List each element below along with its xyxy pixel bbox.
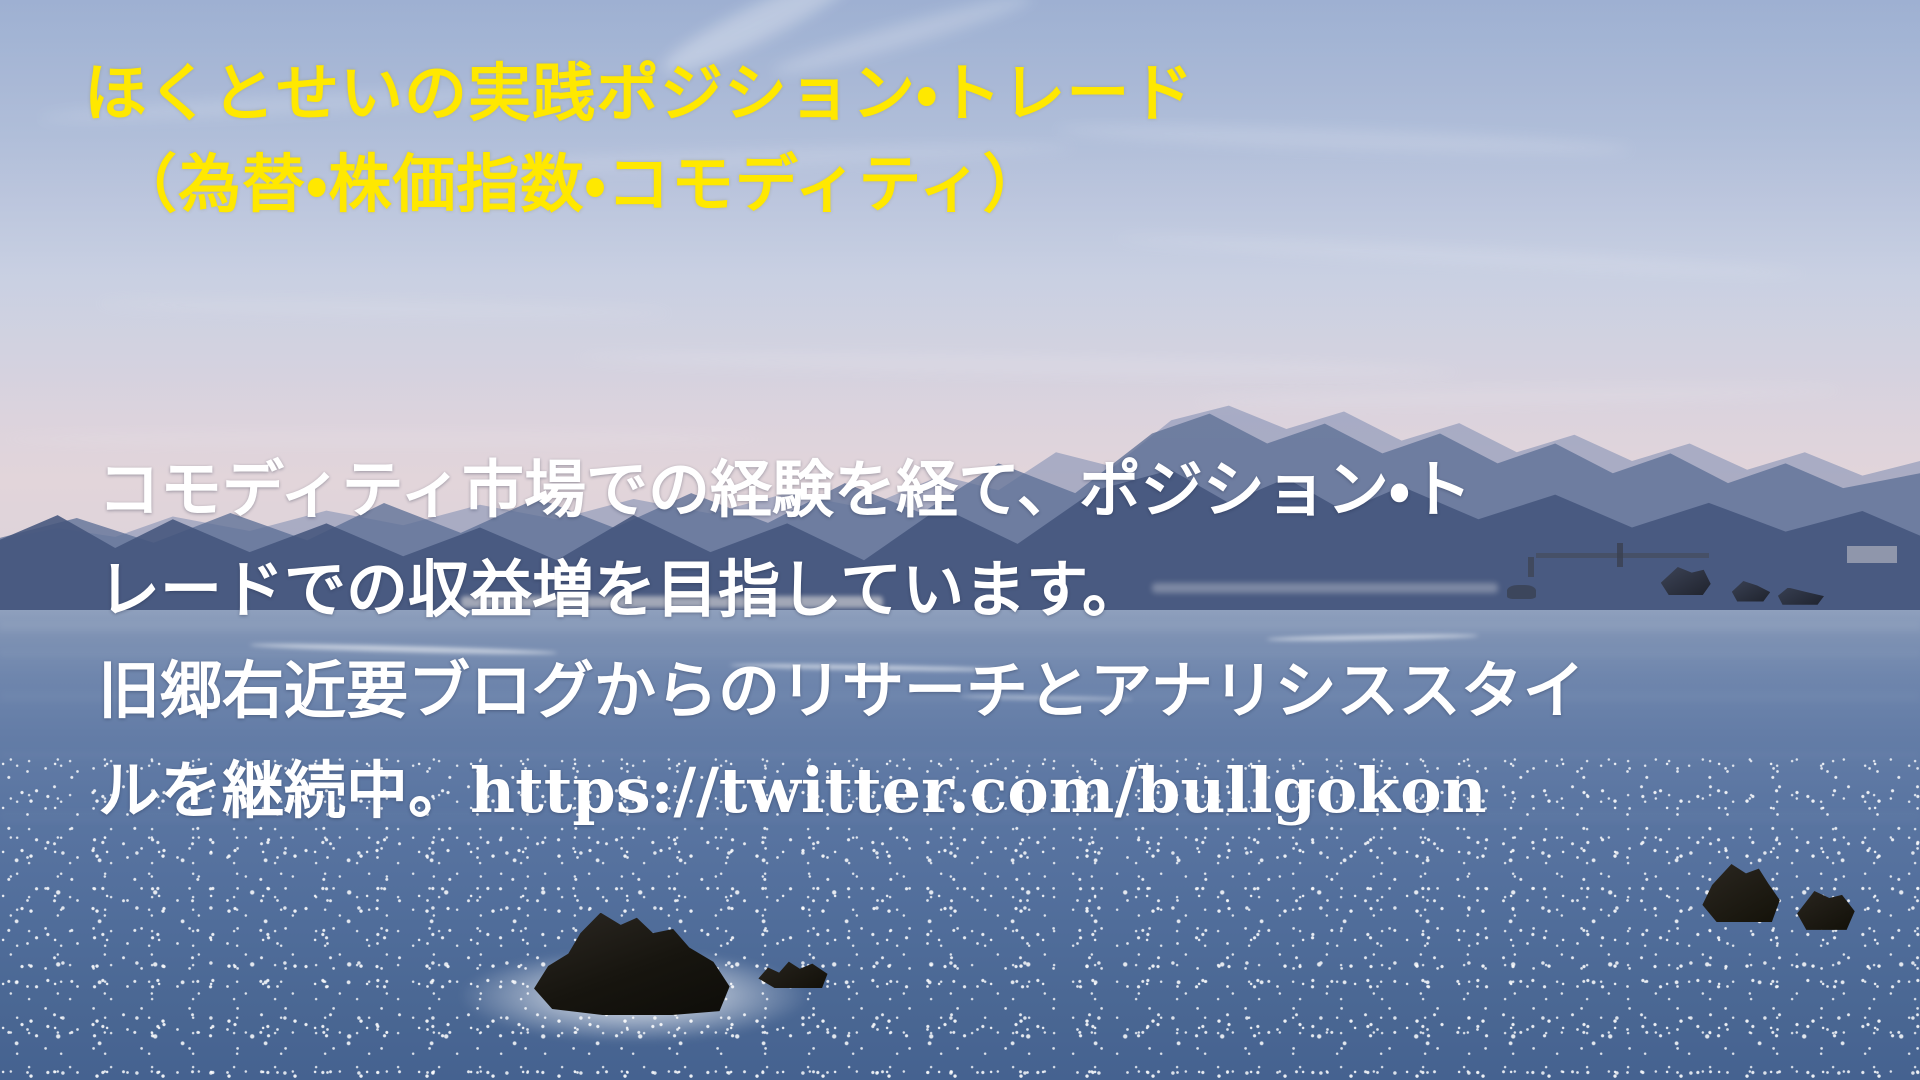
text-overlay: ほくとせいの実践ポジション・トレード （為替・株価指数・コモディティ） コモディ… bbox=[0, 0, 1920, 1080]
body-line-3: 旧郷右近要ブログからのリサーチとアナリシススタイ bbox=[98, 641, 1838, 741]
twitter-url-link[interactable]: https://twitter.com/bullgokon bbox=[470, 754, 1487, 827]
profile-banner: ほくとせいの実践ポジション・トレード （為替・株価指数・コモディティ） コモディ… bbox=[0, 0, 1920, 1080]
title-line-2: （為替・株価指数・コモディティ） bbox=[114, 139, 1584, 230]
body-line-2: レードでの収益増を目指しています。 bbox=[98, 540, 1838, 640]
title-block: ほくとせいの実践ポジション・トレード （為替・株価指数・コモディティ） bbox=[84, 48, 1584, 231]
title-line-1: ほくとせいの実践ポジション・トレード bbox=[84, 48, 1584, 139]
body-line-1: コモディティ市場での経験を経て、ポジション・ト bbox=[98, 440, 1838, 540]
body-block: コモディティ市場での経験を経て、ポジション・ト レードでの収益増を目指しています… bbox=[98, 440, 1838, 842]
body-line-4-prefix: ルを継続中。 bbox=[98, 754, 470, 827]
body-line-4: ルを継続中。https://twitter.com/bullgokon bbox=[98, 741, 1838, 841]
